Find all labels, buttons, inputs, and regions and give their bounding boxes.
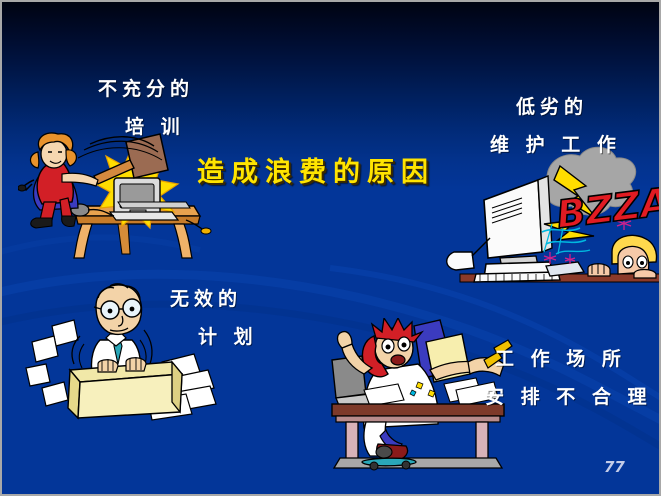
label-ineffective-planning: 无效的 计 划	[170, 280, 258, 356]
clipart-bzzap-monitor: BZZAP!	[438, 140, 661, 300]
page-number: 77	[604, 458, 625, 476]
label-planning-line1: 无效的	[170, 280, 258, 318]
label-workplace-line2: 安 排 不 合 理	[485, 378, 651, 416]
label-workplace-line1: 工 作 场 所	[495, 340, 651, 378]
presentation-slide: BZZAP!	[0, 0, 661, 496]
label-training-line1: 不充分的	[98, 70, 194, 108]
label-poor-workplace-layout: 工 作 场 所 安 排 不 合 理	[495, 340, 651, 416]
slide-title: 造成浪费的原因	[197, 152, 447, 194]
clipart-smashing-computer	[18, 128, 214, 260]
label-maintenance-line1: 低劣的	[516, 88, 621, 126]
label-maintenance-line2: 维 护 工 作	[490, 126, 621, 164]
label-poor-maintenance: 低劣的 维 护 工 作	[516, 88, 621, 164]
label-inadequate-training: 不充分的 培 训	[98, 70, 194, 146]
label-training-line2: 培 训	[98, 108, 194, 146]
label-planning-line2: 计 划	[170, 318, 258, 356]
